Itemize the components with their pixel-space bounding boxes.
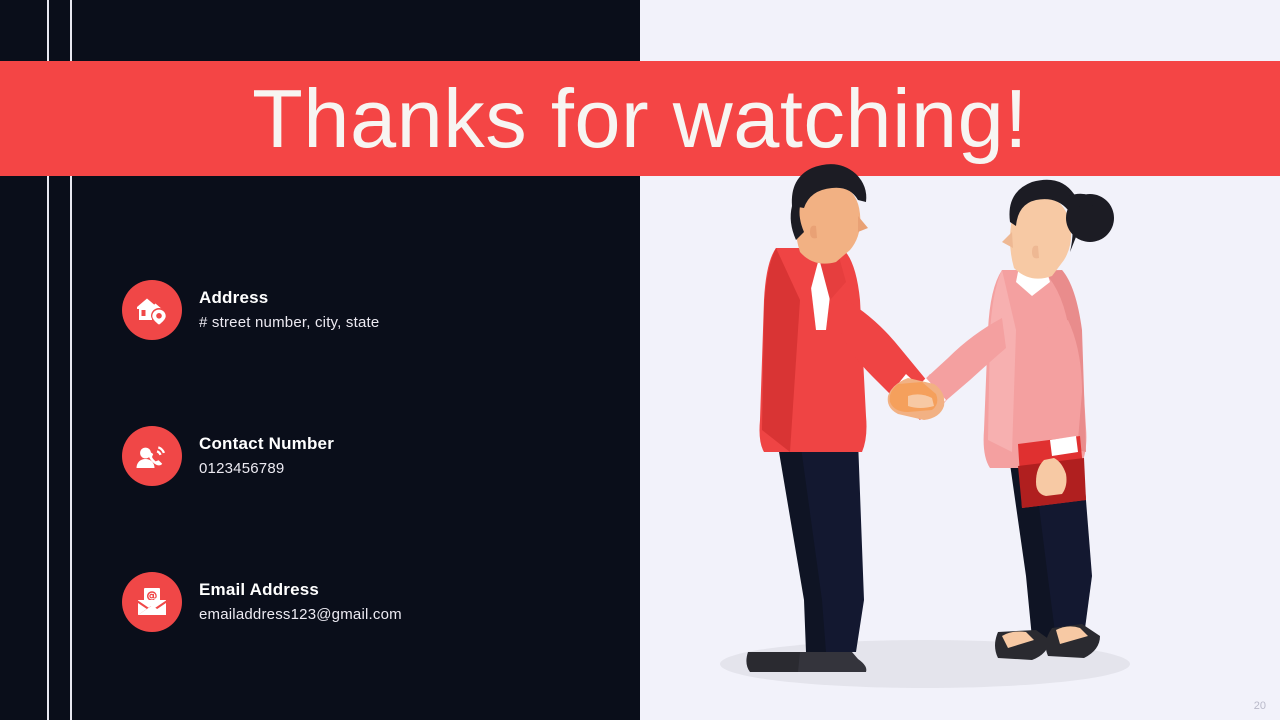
contact-text-phone: Contact Number 0123456789 (199, 433, 334, 480)
house-location-icon (122, 280, 182, 340)
contact-value: emailaddress123@gmail.com (199, 604, 402, 626)
contact-item-phone: Contact Number 0123456789 (122, 420, 602, 492)
handshake-illustration (640, 0, 1280, 720)
contact-title: Email Address (199, 579, 402, 602)
page-number: 20 (1254, 700, 1266, 712)
contact-title: Contact Number (199, 433, 334, 456)
contact-text-email: Email Address emailaddress123@gmail.com (199, 579, 402, 626)
envelope-at-icon (122, 572, 182, 632)
contact-text-address: Address # street number, city, state (199, 287, 379, 334)
contact-value: 0123456789 (199, 458, 334, 480)
contact-item-email: Email Address emailaddress123@gmail.com (122, 566, 602, 638)
person-phone-icon (122, 426, 182, 486)
contact-title: Address (199, 287, 379, 310)
contact-list: Address # street number, city, state (122, 274, 602, 638)
slide: Thanks for watching! (0, 0, 1280, 720)
contact-value: # street number, city, state (199, 312, 379, 334)
contact-item-address: Address # street number, city, state (122, 274, 602, 346)
